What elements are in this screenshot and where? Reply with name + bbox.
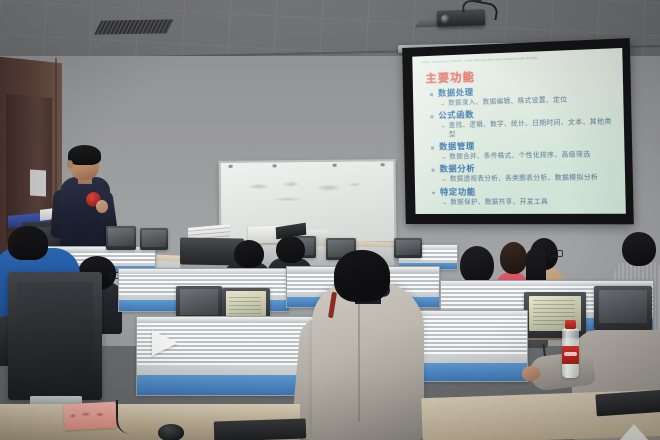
monitor-screen [396, 240, 420, 255]
crt-monitor [106, 226, 136, 250]
slide-bullet-group: 特定功能 数据保护、数据共享、开发工具 [431, 186, 617, 207]
classroom-photo: Office Automation Series · Data Manageme… [0, 0, 660, 440]
student-head [8, 226, 48, 260]
divider-top-rail [119, 269, 289, 274]
slide-bullet-sub: 数据合并、条件格式、个性化排序、高级筛选 [430, 150, 616, 161]
instructor-hair [68, 145, 101, 165]
bottle-label [562, 346, 579, 364]
glasses-icon [548, 250, 563, 257]
computer-keyboard [595, 390, 660, 417]
slide-bullet-group: 数据分析 数据透视表分析、各类图表分析、数据模拟分析 [430, 163, 616, 185]
computer-keyboard [214, 418, 307, 440]
instructor-ear [67, 160, 73, 169]
computer-mouse [158, 424, 184, 440]
screen-surface: Office Automation Series · Data Manageme… [412, 48, 626, 214]
monitor-cable [116, 400, 154, 434]
slide-header-text: Office Automation Series · Data Manageme… [421, 52, 616, 64]
whiteboard-clip [273, 164, 277, 167]
slide-bullet-group: 公式函数 查找、逻辑、数学、统计、日期时间、文本、其他类型 [429, 107, 615, 140]
slide-bullet-main: 特定功能 [431, 186, 617, 198]
student-head [276, 236, 305, 263]
student-head [500, 242, 527, 274]
slide-bullet-sub: 数据保护、数据共享、开发工具 [431, 198, 617, 207]
posted-notice-sheet [30, 169, 46, 196]
bottle-cap [565, 320, 576, 329]
monitor-screen [108, 228, 133, 246]
monitor-screen [599, 290, 648, 323]
student-foreground-head [334, 250, 390, 302]
slide-bullet-sub: 数据透视表分析、各类图表分析、数据模拟分析 [431, 174, 617, 184]
folded-paper-cone [618, 424, 650, 440]
monitor-screen [180, 289, 219, 315]
folded-paper-cone [152, 330, 178, 356]
monitor-screen [142, 230, 166, 247]
projector-cable-secondary [461, 0, 482, 13]
student-head [234, 240, 264, 268]
crt-monitor [594, 286, 652, 330]
whiteboard-clip [381, 163, 385, 166]
student-head [460, 246, 494, 284]
slide-title: 主要功能 [425, 68, 475, 86]
crt-monitor [176, 286, 222, 320]
slide-bullet-list: 数据处理 数据录入、数据编辑、格式设置、定位 公式函数 查找、逻辑、数学、统计、… [429, 83, 617, 210]
slide-bullet-group: 数据管理 数据合并、条件格式、个性化排序、高级筛选 [430, 139, 616, 162]
handwriting-marks [68, 409, 110, 421]
whiteboard-clip [333, 164, 337, 167]
projection-screen: Office Automation Series · Data Manageme… [402, 38, 634, 224]
slide-bullet-sub: 查找、逻辑、数学、统计、日期时间、文本、其他类型 [430, 118, 616, 139]
crt-monitor [394, 238, 422, 258]
ceiling-vent [94, 19, 174, 34]
whiteboard-erased-writing [247, 179, 367, 206]
slide-bullet-group: 数据处理 数据录入、数据编辑、格式设置、定位 [429, 83, 615, 108]
student-head [622, 232, 656, 266]
crt-monitor [140, 228, 168, 250]
pink-handwritten-label [63, 402, 116, 431]
projector-lens-icon [441, 14, 450, 23]
whiteboard-clip [229, 165, 233, 168]
instructor-hand [96, 200, 108, 213]
crt-monitor [8, 272, 102, 400]
monitor-screen [17, 282, 93, 378]
monitor-screen [226, 291, 266, 318]
